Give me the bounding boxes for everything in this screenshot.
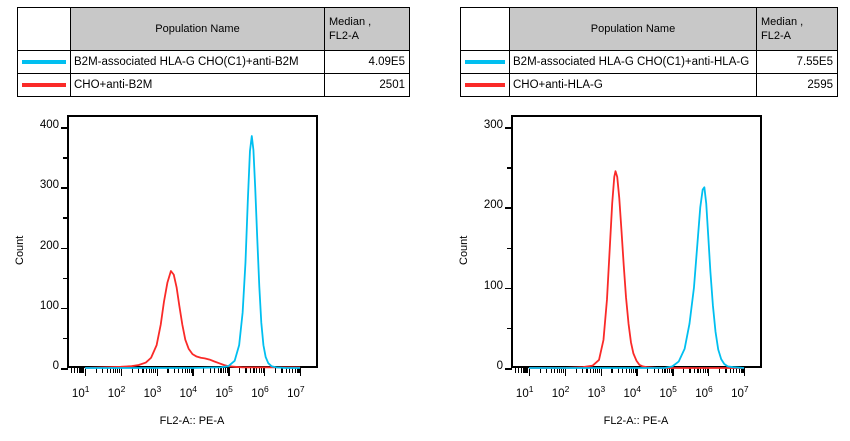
x-axis-label: FL2-A:: PE-A (112, 415, 272, 427)
histogram-chart-right: Count 0100200300101102103104105106107 FL… (440, 0, 850, 441)
flow-cytometry-figure: Population Name Median , FL2-A B2M-assoc… (0, 0, 850, 441)
histogram-series (85, 271, 300, 368)
histogram-series (529, 187, 744, 368)
histogram-curves-right (440, 0, 850, 441)
histogram-curves-left (0, 0, 420, 441)
histogram-series (529, 171, 744, 368)
histogram-chart-left: Count 0100200300400101102103104105106107… (0, 0, 420, 441)
x-axis-label: FL2-A:: PE-A (556, 415, 716, 427)
histogram-series (85, 136, 300, 368)
